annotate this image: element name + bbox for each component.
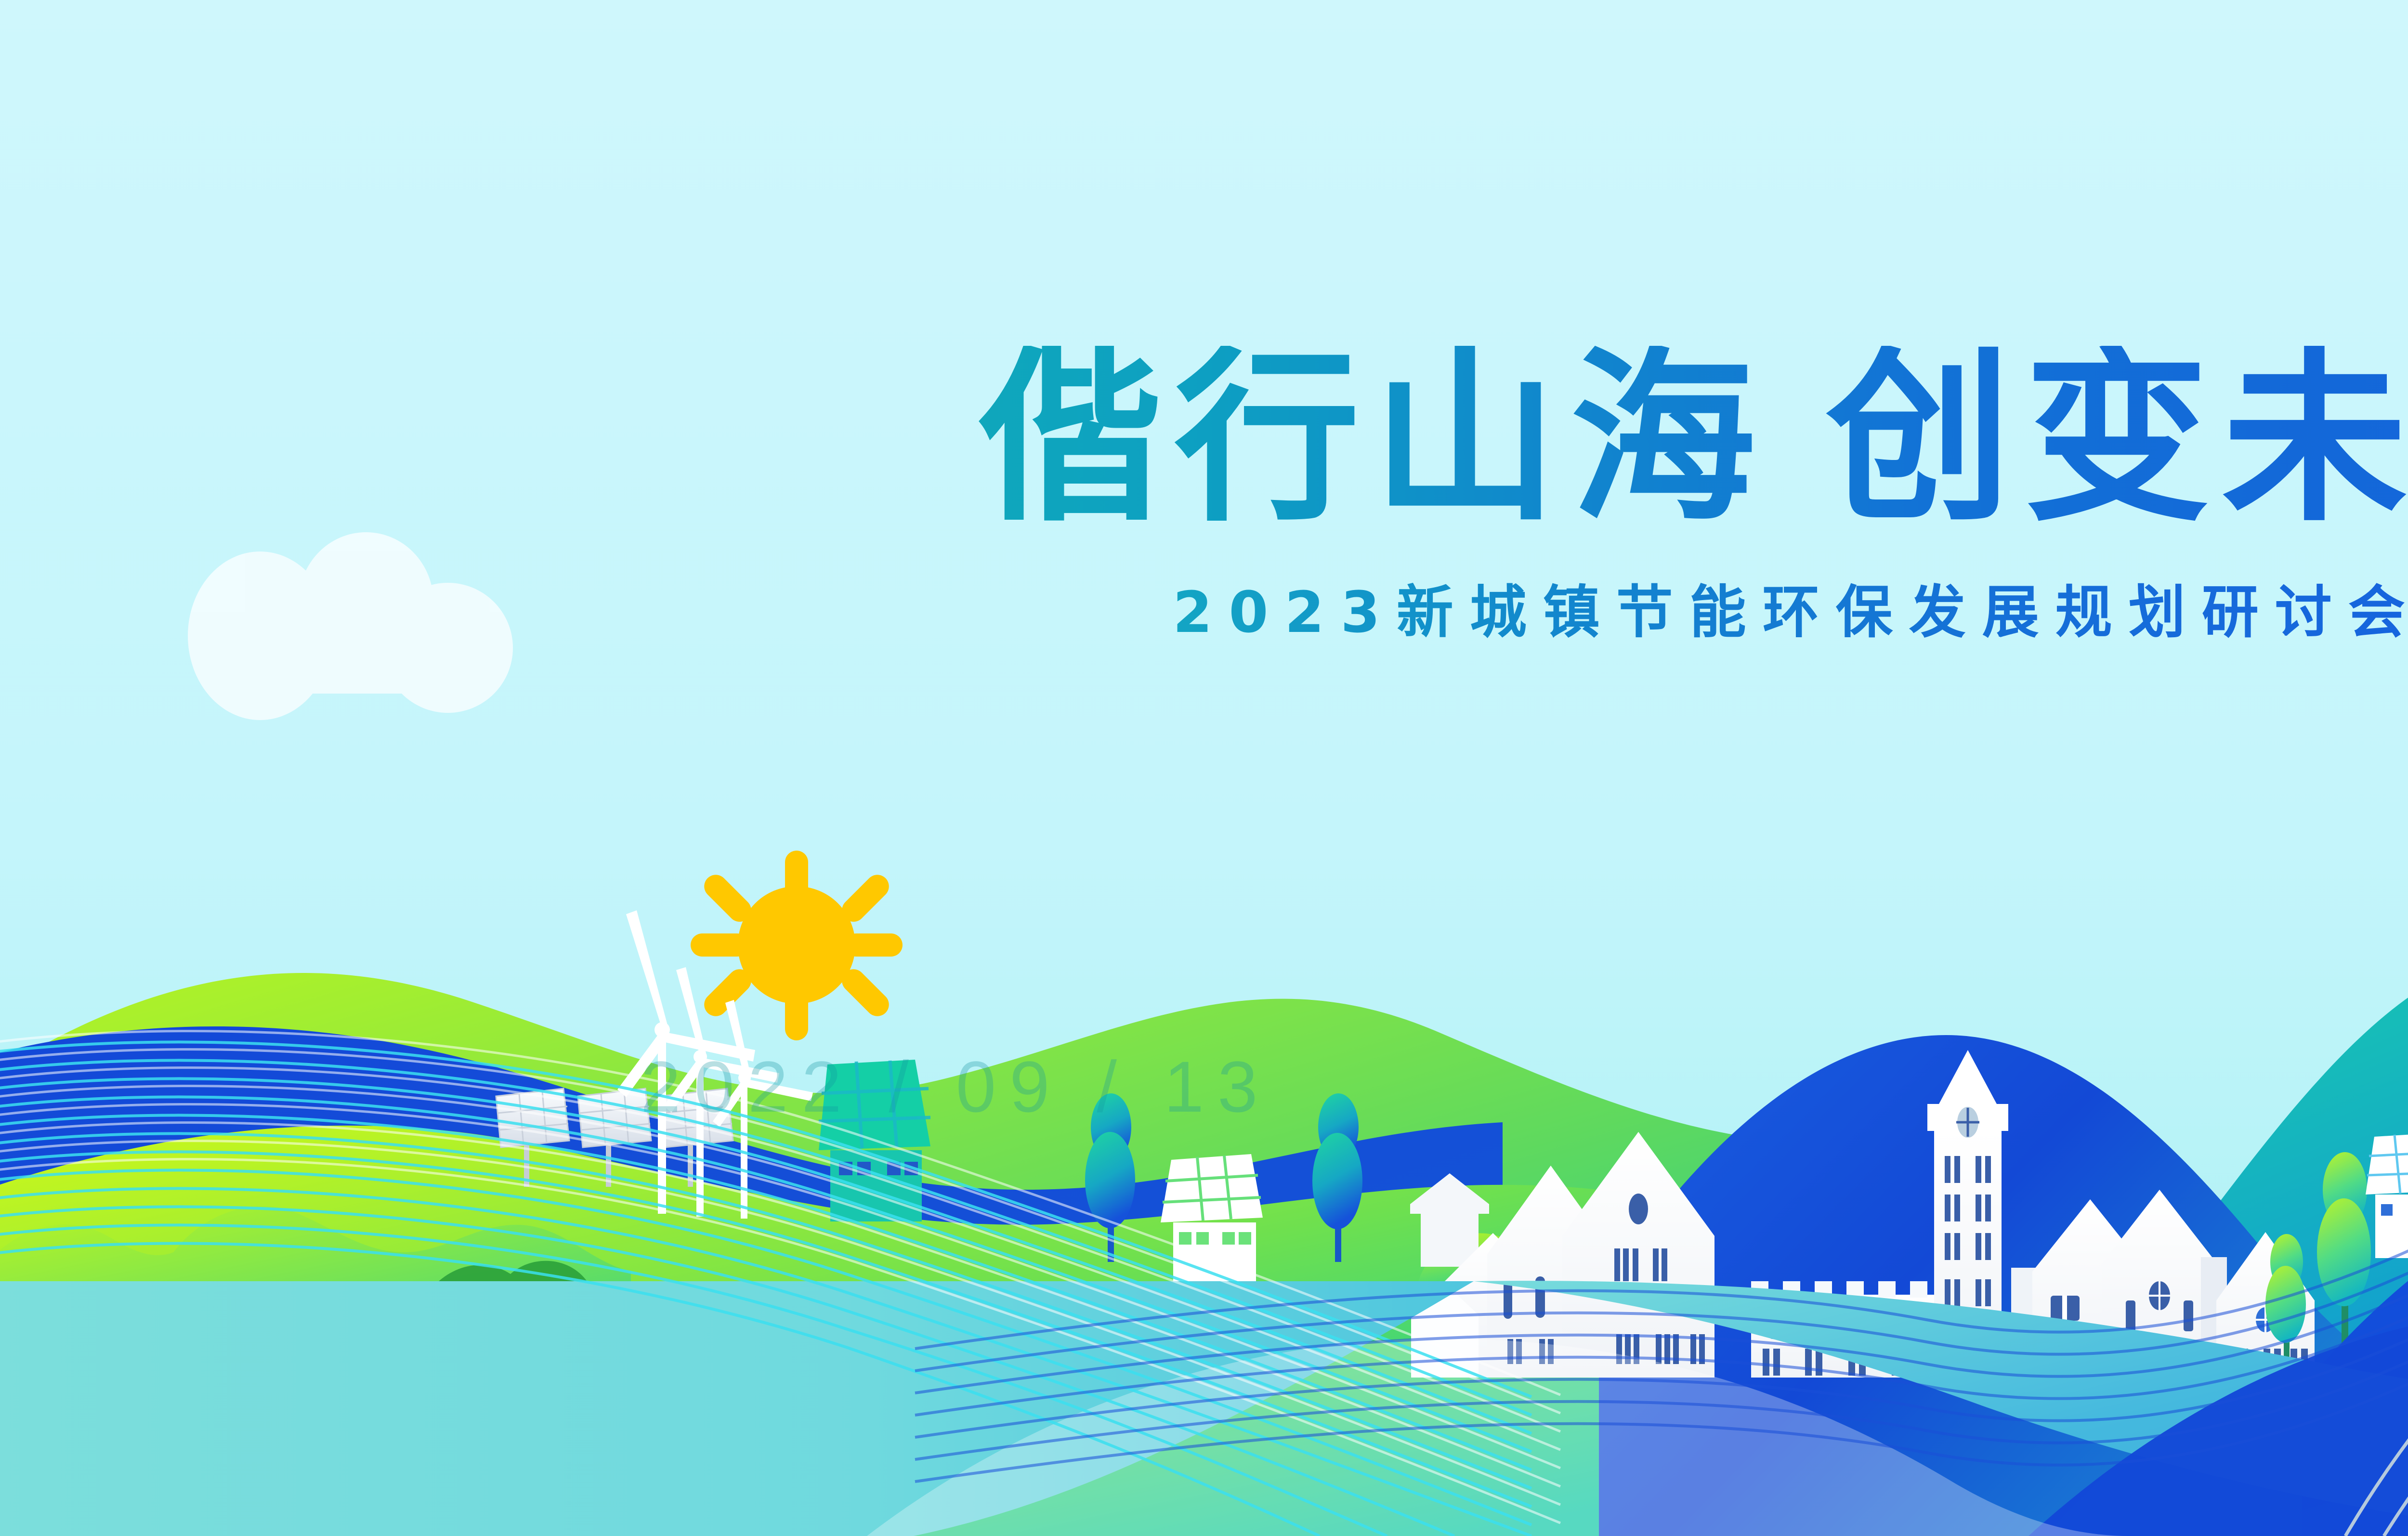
sun-icon	[691, 851, 903, 1040]
date-watermark: 2022 / 09 / 13	[641, 1045, 1271, 1129]
conference-banner: 偕行山海创变未来 2023新城镇节能环保发展规划研讨会 2022 / 09 / …	[0, 0, 2408, 1536]
banner-artwork	[0, 0, 2408, 1536]
